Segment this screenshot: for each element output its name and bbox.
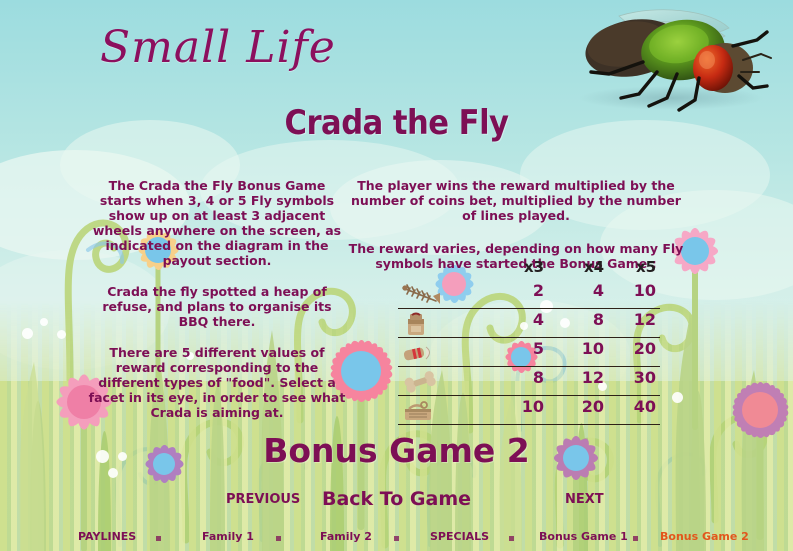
cell-x4: 4: [578, 281, 604, 300]
bokeh-dot: [672, 392, 683, 403]
flower-petal: [731, 392, 789, 428]
flower-petal: [732, 387, 788, 433]
column-header-x3: x3: [524, 258, 544, 276]
jam-jar-icon: [400, 311, 442, 337]
flower-petal: [731, 392, 789, 428]
bone-icon: [400, 369, 442, 395]
cell-x5: 40: [630, 397, 656, 416]
cell-x4: 10: [578, 339, 604, 358]
cell-x5: 30: [630, 368, 656, 387]
flower-stem: [757, 410, 764, 540]
flower-petal: [688, 228, 702, 274]
tab-separator: [394, 536, 399, 541]
table-row: 2 4 10: [398, 280, 660, 309]
column-header-x5: x5: [636, 258, 656, 276]
payout-table: x3 x4 x5 2 4 10: [398, 258, 660, 425]
bokeh-dot: [22, 328, 33, 339]
tab-family-2[interactable]: Family 2: [320, 530, 372, 543]
tab-separator: [276, 536, 281, 541]
tab-family-1[interactable]: Family 1: [202, 530, 254, 543]
flower-petal: [731, 398, 789, 422]
flower-petal: [732, 387, 788, 433]
fish-bone-icon: [400, 282, 442, 308]
cell-x3: 10: [518, 397, 544, 416]
flower-petal: [731, 398, 789, 422]
cell-x3: 8: [518, 368, 544, 387]
flower-petal: [688, 228, 702, 274]
column-header-x4: x4: [584, 258, 604, 276]
cell-x4: 12: [578, 368, 604, 387]
flower-petal: [752, 382, 769, 438]
grass-blade: [30, 401, 46, 551]
flower-stem: [81, 402, 87, 551]
tab-separator: [156, 536, 161, 541]
next-button[interactable]: NEXT: [565, 492, 604, 507]
game-help-screen: Small Life Crada the Fly The Crada the F…: [0, 0, 793, 551]
table-row: 5 10 20: [398, 338, 660, 367]
flower-petal: [353, 340, 370, 402]
tab-specials[interactable]: SPECIALS: [430, 530, 489, 543]
back-to-game-button[interactable]: Back To Game: [0, 488, 793, 510]
cell-x4: 20: [578, 397, 604, 416]
table-row: 4 8 12: [398, 309, 660, 338]
candy-icon: [400, 340, 442, 366]
flower-petal: [345, 339, 376, 403]
cell-x4: 8: [578, 310, 604, 329]
cell-x3: 5: [518, 339, 544, 358]
section-tabs: PAYLINES Family 1 Family 2 SPECIALS Bonu…: [0, 530, 793, 548]
cell-x3: 2: [518, 281, 544, 300]
cell-x5: 12: [630, 310, 656, 329]
page-title: Crada the Fly: [0, 103, 793, 143]
game-logo: Small Life: [100, 22, 336, 73]
flower-petal: [735, 383, 785, 436]
grass-blade: [690, 391, 706, 551]
tab-separator: [509, 536, 514, 541]
cell-x5: 20: [630, 339, 656, 358]
paragraph: There are 5 different values of reward c…: [88, 345, 346, 420]
flower-center: [742, 392, 778, 428]
tab-bonus-game-1[interactable]: Bonus Game 1: [539, 530, 628, 543]
flower-petal: [345, 339, 376, 403]
paragraph: The Crada the Fly Bonus Game starts when…: [88, 178, 346, 268]
bonus-game-heading: Bonus Game 2: [0, 431, 793, 470]
left-description-column: The Crada the Fly Bonus Game starts when…: [88, 178, 346, 420]
payout-table-header: x3 x4 x5: [398, 258, 660, 280]
paragraph: The player wins the reward multiplied by…: [348, 178, 684, 223]
paragraph: Crada the fly spotted a heap of refuse, …: [88, 284, 346, 329]
flower-stem: [692, 250, 698, 430]
bokeh-dot: [40, 318, 48, 326]
tab-bonus-game-2[interactable]: Bonus Game 2: [660, 530, 749, 543]
cell-x3: 4: [518, 310, 544, 329]
sardine-can-icon: [400, 398, 442, 424]
flower-center: [681, 237, 709, 265]
tab-paylines[interactable]: PAYLINES: [78, 530, 136, 543]
bokeh-dot: [57, 330, 66, 339]
flower-center: [341, 351, 381, 391]
flower-petal: [735, 383, 785, 436]
tab-separator: [633, 536, 638, 541]
green-bottle-fly-icon: [561, 2, 791, 114]
table-row: 10 20 40: [398, 396, 660, 425]
cell-x5: 10: [630, 281, 656, 300]
table-row: 8 12 30: [398, 367, 660, 396]
